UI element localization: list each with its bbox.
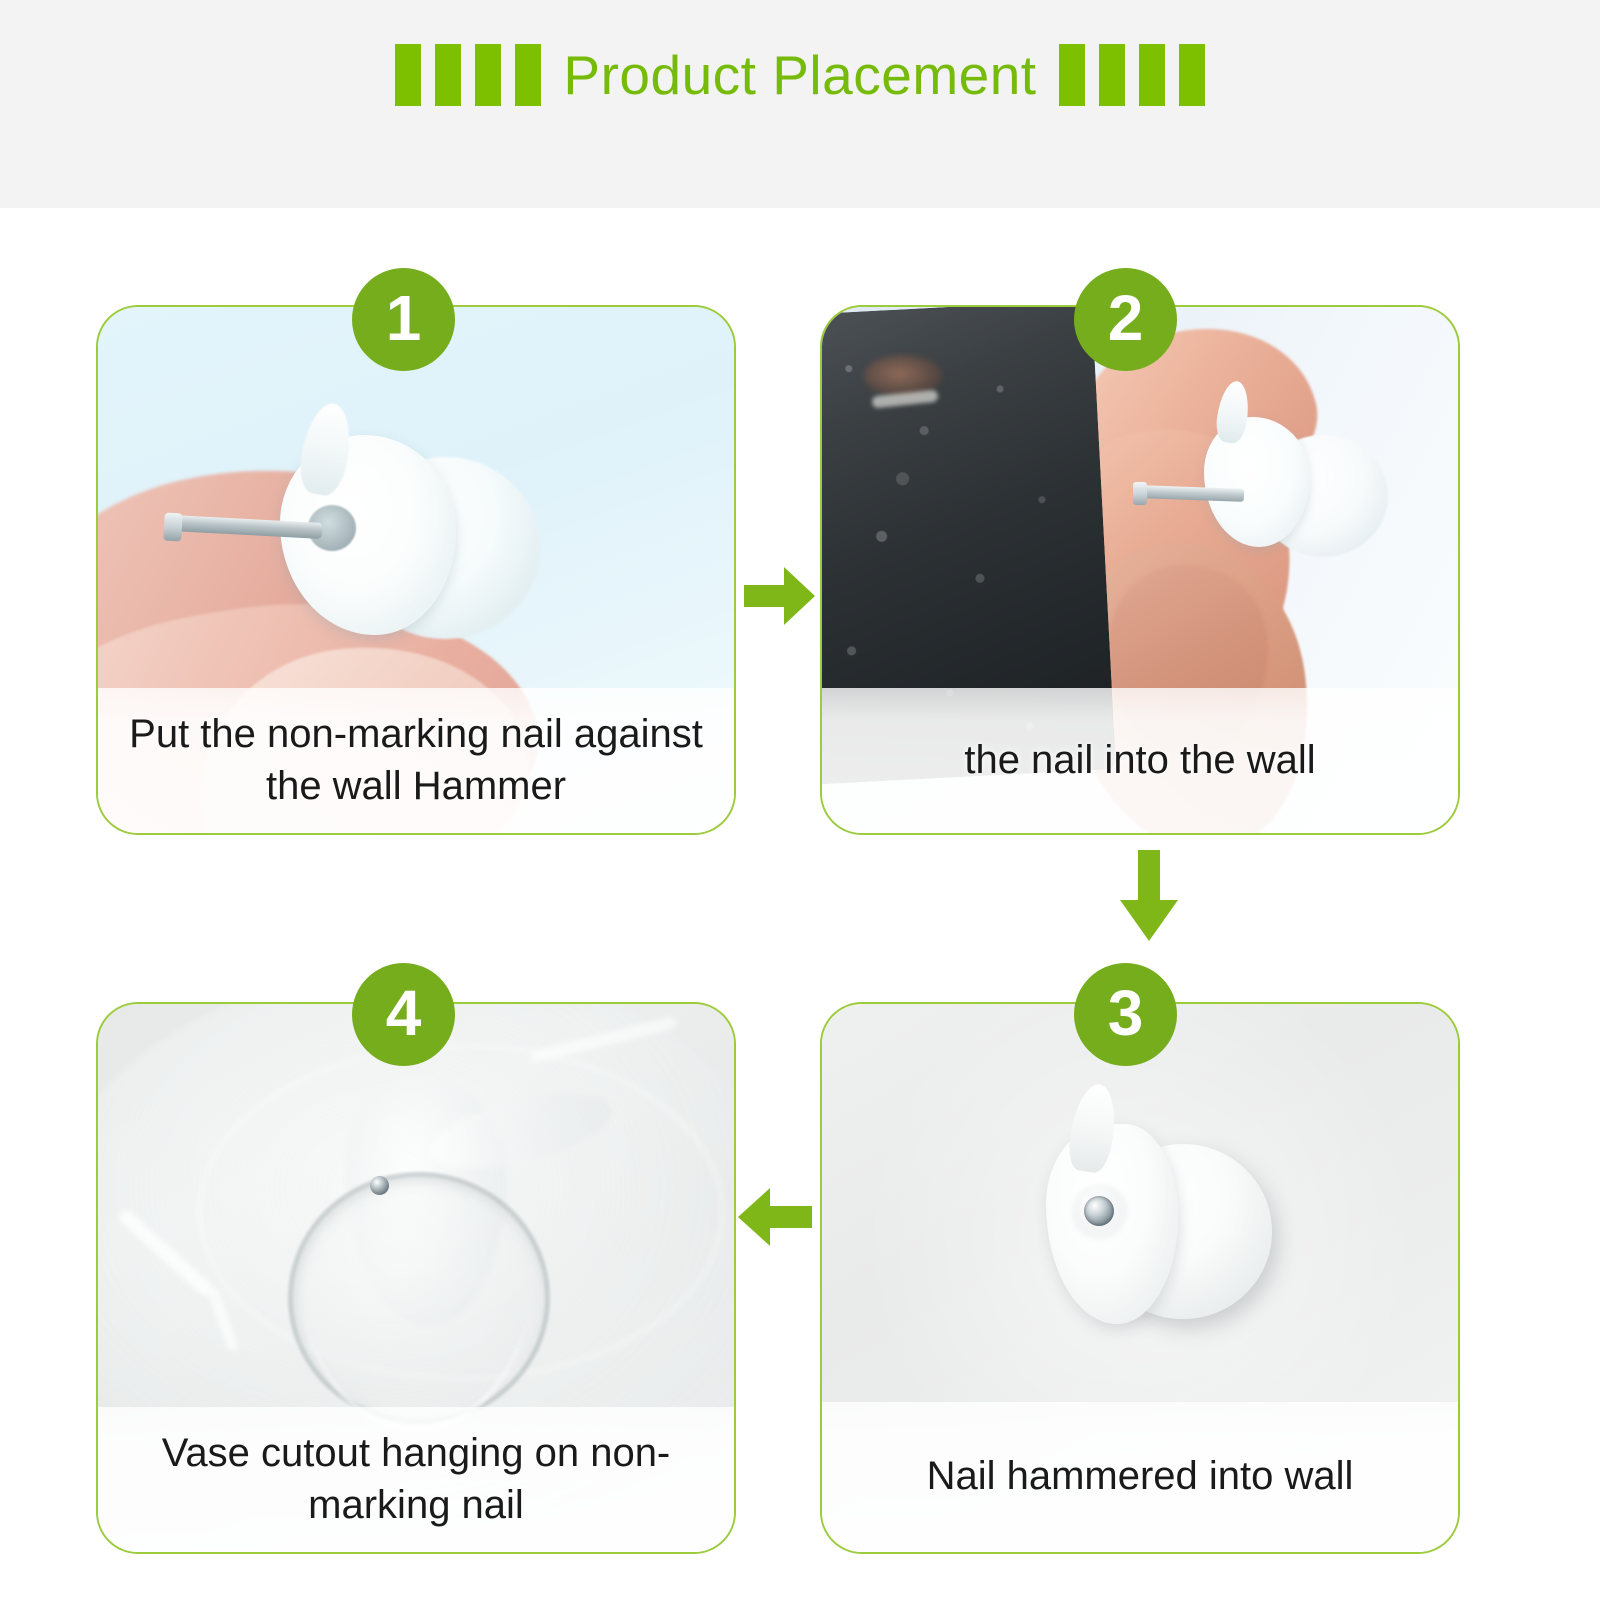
arrow-step3-to-step4-icon <box>736 1186 812 1248</box>
header-bar-icon <box>475 44 501 106</box>
header-band: Product Placement <box>0 0 1600 208</box>
arrow-step1-to-step2-icon <box>744 565 816 627</box>
step-card-4: Vase cutout hanging on non-marking nail <box>96 1002 736 1554</box>
step-card-2: the nail into the wall <box>820 305 1460 835</box>
header-title-row: Product Placement <box>0 0 1600 150</box>
header-bar-icon <box>395 44 421 106</box>
step-badge-2: 2 <box>1074 268 1177 371</box>
header-bar-icon <box>1099 44 1125 106</box>
step-2-caption: the nail into the wall <box>822 688 1458 833</box>
step-card-3: Nail hammered into wall <box>820 1002 1460 1554</box>
header-right-bars <box>1059 44 1205 106</box>
step-3-caption: Nail hammered into wall <box>822 1402 1458 1552</box>
header-bar-icon <box>1179 44 1205 106</box>
step-1-caption: Put the non-marking nail against the wal… <box>98 688 734 833</box>
header-bar-icon <box>515 44 541 106</box>
metal-pin-head <box>1084 1196 1114 1226</box>
step-card-1: Put the non-marking nail against the wal… <box>96 305 736 835</box>
header-left-bars <box>395 44 541 106</box>
step-badge-3: 3 <box>1074 963 1177 1066</box>
header-bar-icon <box>1059 44 1085 106</box>
step-badge-1: 1 <box>352 268 455 371</box>
step-badge-4: 4 <box>352 963 455 1066</box>
header-bar-icon <box>1139 44 1165 106</box>
arrow-step2-to-step3-icon <box>1118 850 1180 942</box>
step-4-caption: Vase cutout hanging on non-marking nail <box>98 1407 734 1552</box>
header-bar-icon <box>435 44 461 106</box>
page-title: Product Placement <box>563 43 1036 107</box>
metal-pin-head <box>370 1176 389 1195</box>
metal-pin-head <box>163 513 182 542</box>
metal-pin-head <box>1133 482 1147 505</box>
